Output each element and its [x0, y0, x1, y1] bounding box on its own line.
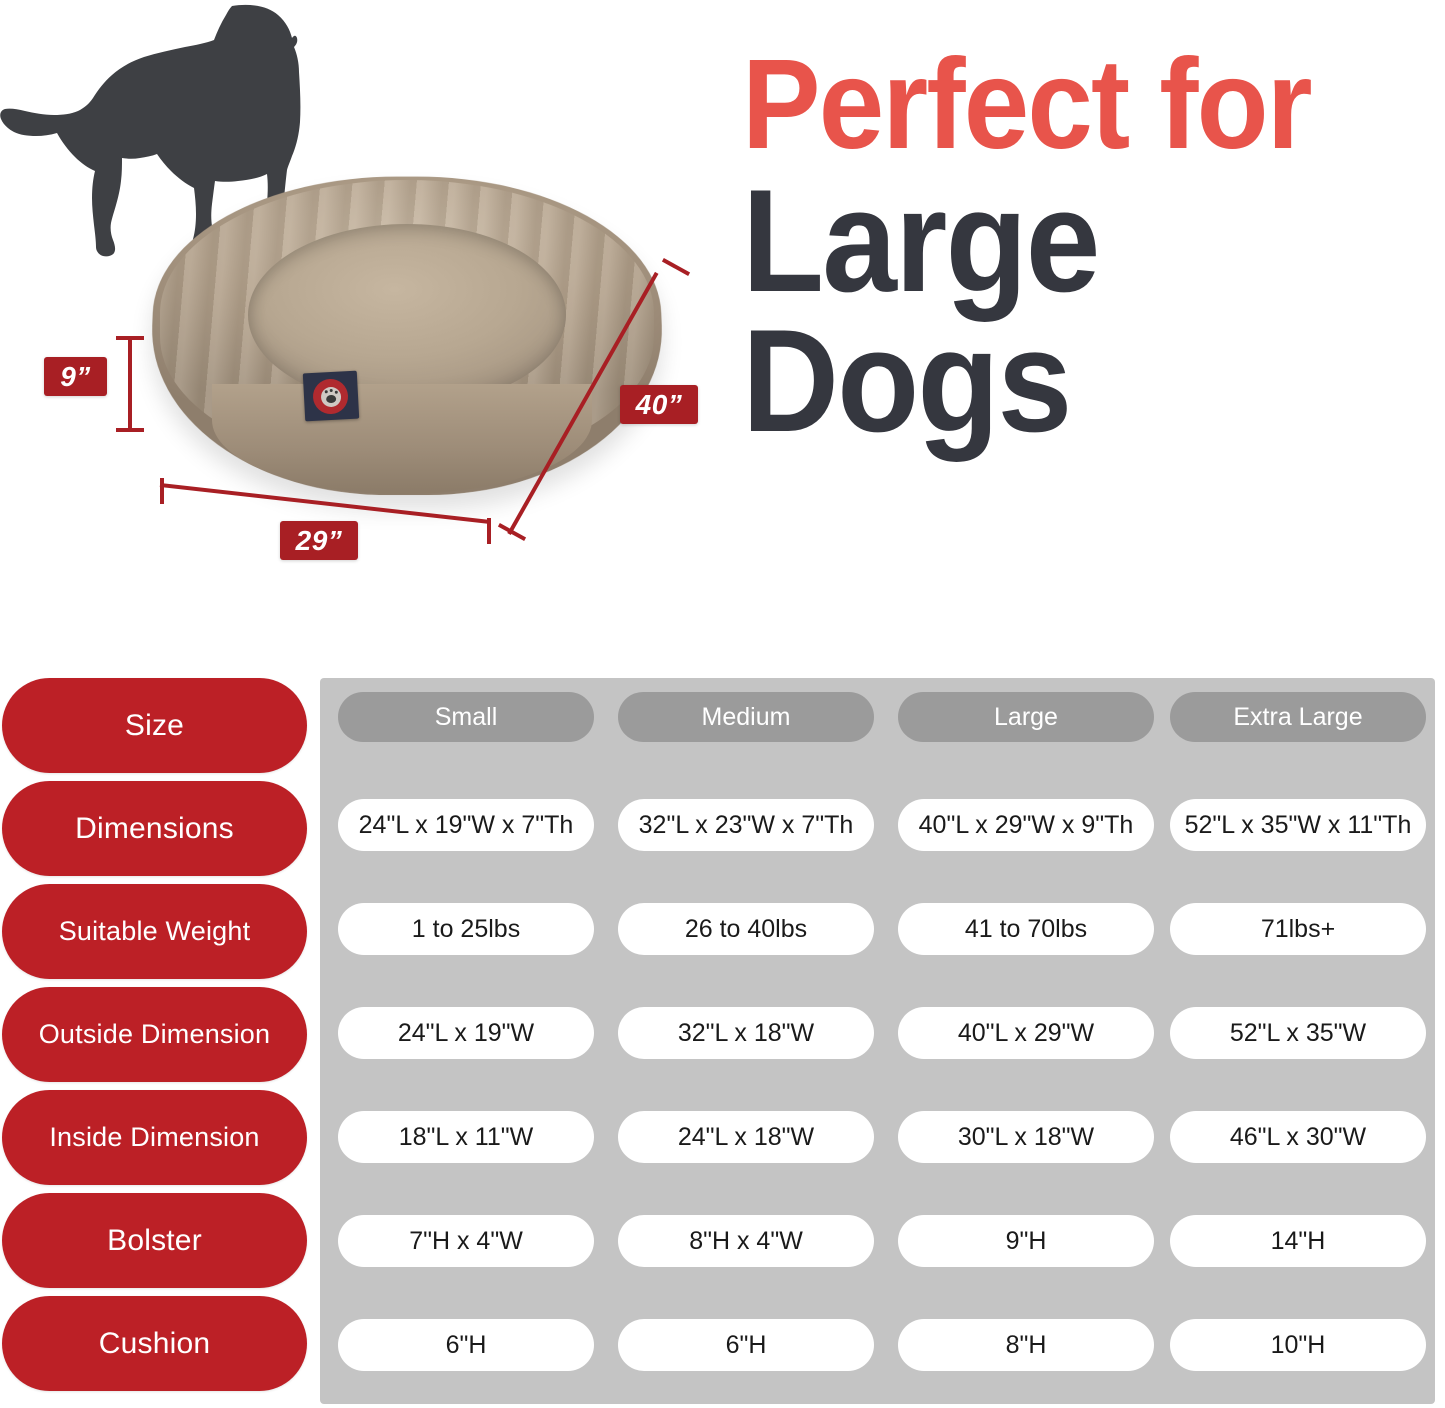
specification-table: SizeDimensionsSuitable WeightOutside Dim… [0, 660, 1445, 1408]
spec-column-header: Medium [618, 692, 874, 742]
headline-line-3: Dogs [742, 312, 1386, 451]
height-measure-cap-top [116, 336, 144, 340]
headline-line-1: Perfect for [742, 44, 1386, 166]
spec-value-grid: SmallMediumLargeExtra Large24"L x 19"W x… [338, 660, 1420, 1408]
hero-section: 9” 40” 29” Perfect for Large Dogs [0, 0, 1445, 660]
spec-row-label-cushion: Cushion [2, 1296, 307, 1391]
width-measure-cap-right [487, 518, 491, 544]
spec-row-label-dimensions: Dimensions [2, 781, 307, 876]
length-measure-cap-top [662, 258, 690, 276]
spec-cell: 6"H [338, 1319, 594, 1371]
spec-cell: 26 to 40lbs [618, 903, 874, 955]
bed-front-skirt [212, 384, 592, 494]
spec-cell: 40"L x 29"W [898, 1007, 1154, 1059]
spec-cell: 6"H [618, 1319, 874, 1371]
spec-cell: 24"L x 19"W x 7"Th [338, 799, 594, 851]
spec-cell: 9"H [898, 1215, 1154, 1267]
spec-cell: 30"L x 18"W [898, 1111, 1154, 1163]
brand-tag [303, 371, 359, 422]
spec-cell: 8"H x 4"W [618, 1215, 874, 1267]
bed-cushion [248, 224, 566, 406]
spec-cell: 32"L x 18"W [618, 1007, 874, 1059]
height-measure-line [128, 336, 132, 432]
spec-cell: 8"H [898, 1319, 1154, 1371]
product-infographic: 9” 40” 29” Perfect for Large Dogs SizeDi… [0, 0, 1445, 1408]
spec-cell: 1 to 25lbs [338, 903, 594, 955]
spec-column-header: Small [338, 692, 594, 742]
spec-cell: 52"L x 35"W x 11"Th [1170, 799, 1426, 851]
spec-cell: 32"L x 23"W x 7"Th [618, 799, 874, 851]
spec-cell: 46"L x 30"W [1170, 1111, 1426, 1163]
spec-row-label-outside-dimension: Outside Dimension [2, 987, 307, 1082]
spec-column-header: Large [898, 692, 1154, 742]
width-callout-label: 29” [280, 521, 358, 560]
height-measure-cap-bottom [116, 428, 144, 432]
height-callout-label: 9” [44, 357, 107, 396]
spec-row-labels: SizeDimensionsSuitable WeightOutside Dim… [2, 660, 307, 1408]
spec-row-label-inside-dimension: Inside Dimension [2, 1090, 307, 1185]
spec-cell: 14"H [1170, 1215, 1426, 1267]
paw-print-icon [320, 386, 341, 407]
headline-line-2: Large [742, 172, 1386, 311]
spec-cell: 40"L x 29"W x 9"Th [898, 799, 1154, 851]
spec-row-label-suitable-weight: Suitable Weight [2, 884, 307, 979]
length-callout-label: 40” [620, 385, 698, 424]
spec-cell: 18"L x 11"W [338, 1111, 594, 1163]
spec-cell: 24"L x 19"W [338, 1007, 594, 1059]
page-title: Perfect for Large Dogs [742, 44, 1442, 451]
spec-column-header: Extra Large [1170, 692, 1426, 742]
spec-cell: 71lbs+ [1170, 903, 1426, 955]
spec-cell: 41 to 70lbs [898, 903, 1154, 955]
spec-cell: 24"L x 18"W [618, 1111, 874, 1163]
spec-cell: 10"H [1170, 1319, 1426, 1371]
spec-row-label-bolster: Bolster [2, 1193, 307, 1288]
spec-row-label-size: Size [2, 678, 307, 773]
dog-bed-photo [152, 172, 662, 502]
brand-tag-ring [312, 378, 349, 415]
spec-cell: 52"L x 35"W [1170, 1007, 1426, 1059]
width-measure-cap-left [160, 478, 164, 504]
spec-cell: 7"H x 4"W [338, 1215, 594, 1267]
